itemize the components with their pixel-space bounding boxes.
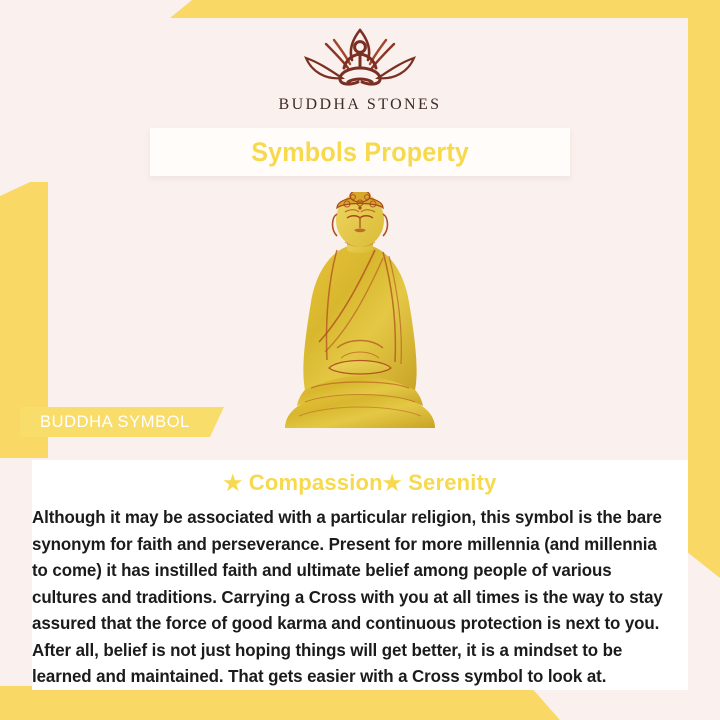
lotus-meditation-icon [286,24,434,90]
top-accent-bar [0,0,720,18]
bottom-accent-bar [0,686,720,720]
brand-logo: BUDDHA STONES [0,24,720,114]
description-section: ★ Compassion★ Serenity Although it may b… [32,460,688,690]
attribute-serenity: Serenity [402,470,497,495]
title-banner: Symbols Property [150,128,570,176]
star-icon-1: ★ [223,472,242,495]
hero-image [0,182,720,432]
description-body: Although it may be associated with a par… [32,496,678,690]
brand-name: BUDDHA STONES [0,96,720,114]
symbol-category-tag: BUDDHA SYMBOL [20,407,224,437]
star-icon-2: ★ [383,472,402,495]
page-title: Symbols Property [251,137,469,168]
symbol-category-label: BUDDHA SYMBOL [40,413,190,432]
infographic-page: BUDDHA STONES Symbols Property [0,0,720,720]
attributes-subtitle: ★ Compassion★ Serenity [32,460,688,496]
attribute-compassion: Compassion [242,470,382,495]
golden-seated-buddha-statue-icon [267,192,453,432]
